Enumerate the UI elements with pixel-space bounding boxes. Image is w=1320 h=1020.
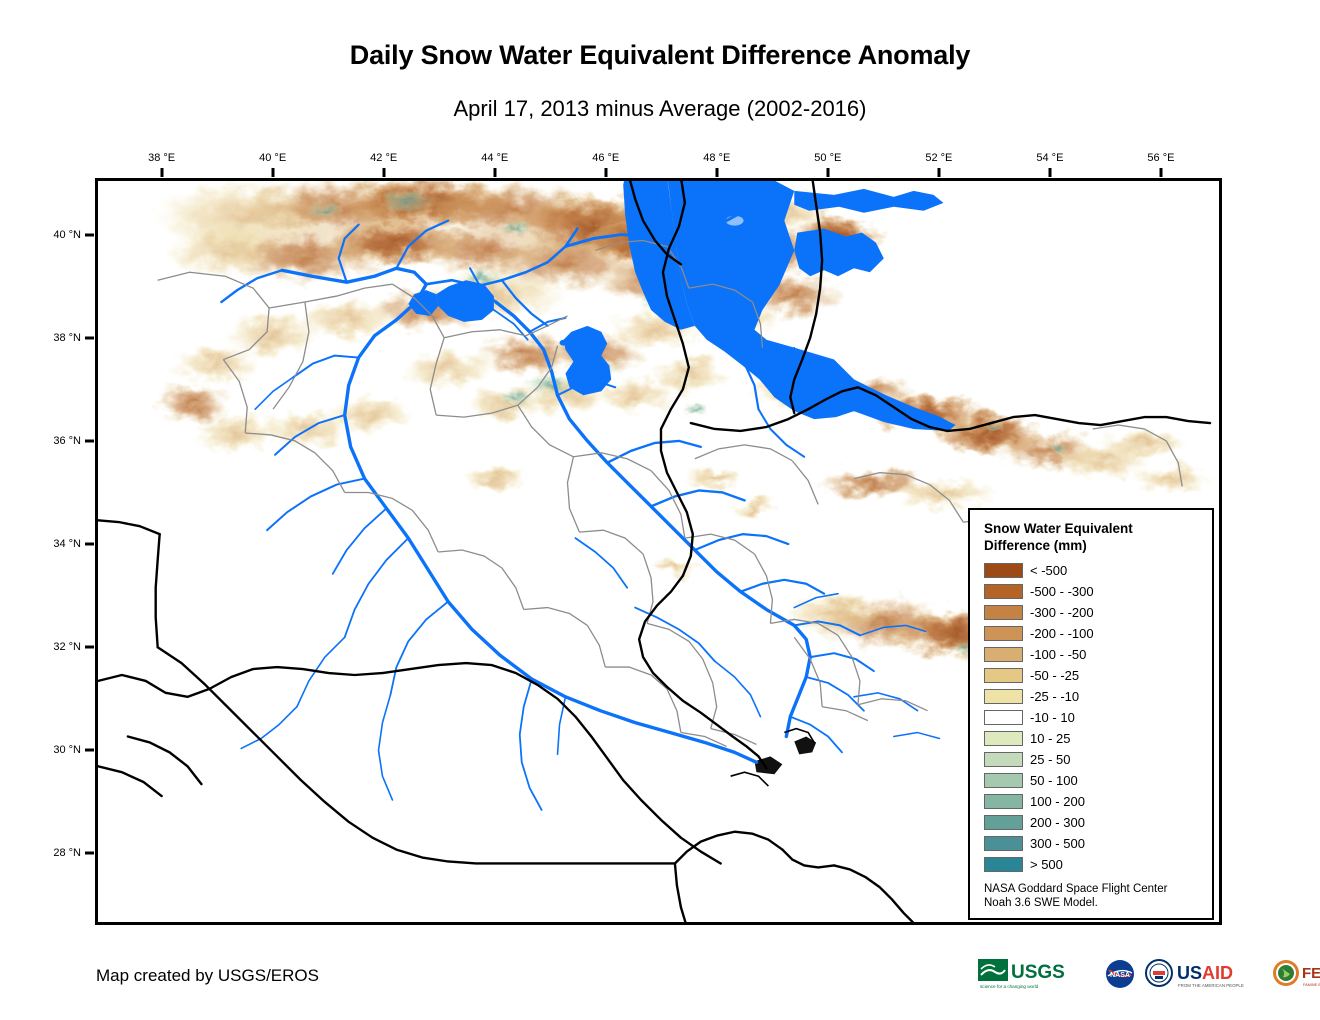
- legend-swatch: [984, 836, 1023, 851]
- legend-swatch: [984, 647, 1023, 662]
- lon-tick-mark: [937, 168, 940, 177]
- lon-tick-mark: [826, 168, 829, 177]
- legend-swatch: [984, 794, 1023, 809]
- legend-row: 100 - 200: [984, 791, 1212, 812]
- legend-swatch: [984, 605, 1023, 620]
- lat-tick-label: 40 °N: [53, 229, 81, 241]
- svg-text:FAMINE EARLY WARNING SYSTEMS N: FAMINE EARLY WARNING SYSTEMS NETWORK: [1303, 983, 1320, 987]
- legend-label: 10 - 25: [1030, 731, 1070, 746]
- legend-swatch: [984, 563, 1023, 578]
- page-title: Daily Snow Water Equivalent Difference A…: [0, 40, 1320, 71]
- lon-tick-label: 54 °E: [1036, 152, 1063, 164]
- legend-swatch: [984, 773, 1023, 788]
- legend-label: 100 - 200: [1030, 794, 1085, 809]
- legend-row: -500 - -300: [984, 581, 1212, 602]
- map-credit: Map created by USGS/EROS: [96, 966, 319, 986]
- lat-tick-mark: [85, 233, 94, 236]
- legend-label: 300 - 500: [1030, 836, 1085, 851]
- lat-tick-label: 34 °N: [53, 538, 81, 550]
- legend-label: 50 - 100: [1030, 773, 1078, 788]
- lon-tick-mark: [1159, 168, 1162, 177]
- legend-row: -200 - -100: [984, 623, 1212, 644]
- page-subtitle: April 17, 2013 minus Average (2002-2016): [0, 96, 1320, 122]
- lat-tick-label: 32 °N: [53, 641, 81, 653]
- lon-tick-label: 46 °E: [592, 152, 619, 164]
- lon-tick-label: 52 °E: [925, 152, 952, 164]
- legend-label: -200 - -100: [1030, 626, 1094, 641]
- legend-label: < -500: [1030, 563, 1067, 578]
- legend-label: -100 - -50: [1030, 647, 1086, 662]
- svg-text:USGS: USGS: [1011, 962, 1065, 983]
- lon-tick-mark: [382, 168, 385, 177]
- legend-row: -300 - -200: [984, 602, 1212, 623]
- lon-tick-mark: [493, 168, 496, 177]
- lon-tick-mark: [715, 168, 718, 177]
- lat-tick-mark: [85, 336, 94, 339]
- legend-row: -10 - 10: [984, 707, 1212, 728]
- lon-tick-label: 38 °E: [148, 152, 175, 164]
- legend-row: < -500: [984, 560, 1212, 581]
- lon-tick-label: 44 °E: [481, 152, 508, 164]
- legend-items: < -500-500 - -300-300 - -200-200 - -100-…: [984, 560, 1212, 875]
- lat-tick-label: 28 °N: [53, 847, 81, 859]
- legend-swatch: [984, 710, 1023, 725]
- legend-row: 10 - 25: [984, 728, 1212, 749]
- legend-label: 200 - 300: [1030, 815, 1085, 830]
- lon-tick-mark: [1048, 168, 1051, 177]
- svg-text:FEWS NET: FEWS NET: [1302, 965, 1320, 982]
- legend-swatch: [984, 731, 1023, 746]
- legend-swatch: [984, 857, 1023, 872]
- legend-title: Snow Water Equivalent Difference (mm): [984, 520, 1212, 554]
- legend-label: 25 - 50: [1030, 752, 1070, 767]
- legend-swatch: [984, 626, 1023, 641]
- svg-text:NASA: NASA: [1110, 972, 1130, 979]
- usaid-logo: USAID FROM THE AMERICAN PEOPLE: [1144, 957, 1264, 991]
- legend-row: > 500: [984, 854, 1212, 875]
- svg-text:science for a changing world: science for a changing world: [980, 984, 1039, 989]
- legend-label: -50 - -25: [1030, 668, 1079, 683]
- lat-tick-mark: [85, 439, 94, 442]
- fewsnet-logo: FEWS NET FAMINE EARLY WARNING SYSTEMS NE…: [1271, 957, 1320, 991]
- lon-tick-mark: [271, 168, 274, 177]
- legend-swatch: [984, 689, 1023, 704]
- legend-label: -300 - -200: [1030, 605, 1094, 620]
- legend-swatch: [984, 584, 1023, 599]
- nasa-logo: NASA: [1103, 957, 1137, 991]
- legend-label: > 500: [1030, 857, 1063, 872]
- legend-row: -25 - -10: [984, 686, 1212, 707]
- lon-tick-label: 40 °E: [259, 152, 286, 164]
- lat-tick-mark: [85, 542, 94, 545]
- legend-row: 50 - 100: [984, 770, 1212, 791]
- lat-tick-label: 30 °N: [53, 744, 81, 756]
- lat-tick-mark: [85, 748, 94, 751]
- lat-tick-mark: [85, 851, 94, 854]
- legend-label: -25 - -10: [1030, 689, 1079, 704]
- legend-swatch: [984, 815, 1023, 830]
- legend-row: 200 - 300: [984, 812, 1212, 833]
- legend-row: -100 - -50: [984, 644, 1212, 665]
- legend-row: -50 - -25: [984, 665, 1212, 686]
- legend-swatch: [984, 668, 1023, 683]
- legend-label: -10 - 10: [1030, 710, 1075, 725]
- lon-tick-label: 42 °E: [370, 152, 397, 164]
- legend-label: -500 - -300: [1030, 584, 1094, 599]
- svg-text:FROM THE AMERICAN PEOPLE: FROM THE AMERICAN PEOPLE: [1178, 983, 1244, 988]
- legend-row: 25 - 50: [984, 749, 1212, 770]
- svg-text:USAID: USAID: [1177, 963, 1233, 983]
- legend-swatch: [984, 752, 1023, 767]
- legend-panel: Snow Water Equivalent Difference (mm) < …: [968, 508, 1214, 920]
- lon-tick-label: 48 °E: [703, 152, 730, 164]
- agency-logos: USGS science for a changing world NASA U…: [978, 955, 1320, 993]
- legend-row: 300 - 500: [984, 833, 1212, 854]
- lat-tick-mark: [85, 645, 94, 648]
- lat-tick-label: 38 °N: [53, 332, 81, 344]
- legend-source-note: NASA Goddard Space Flight Center Noah 3.…: [984, 882, 1167, 910]
- lon-tick-mark: [604, 168, 607, 177]
- lat-tick-label: 36 °N: [53, 435, 81, 447]
- lon-tick-mark: [160, 168, 163, 177]
- lon-tick-label: 50 °E: [814, 152, 841, 164]
- usgs-logo: USGS science for a changing world: [978, 957, 1096, 991]
- lon-tick-label: 56 °E: [1147, 152, 1174, 164]
